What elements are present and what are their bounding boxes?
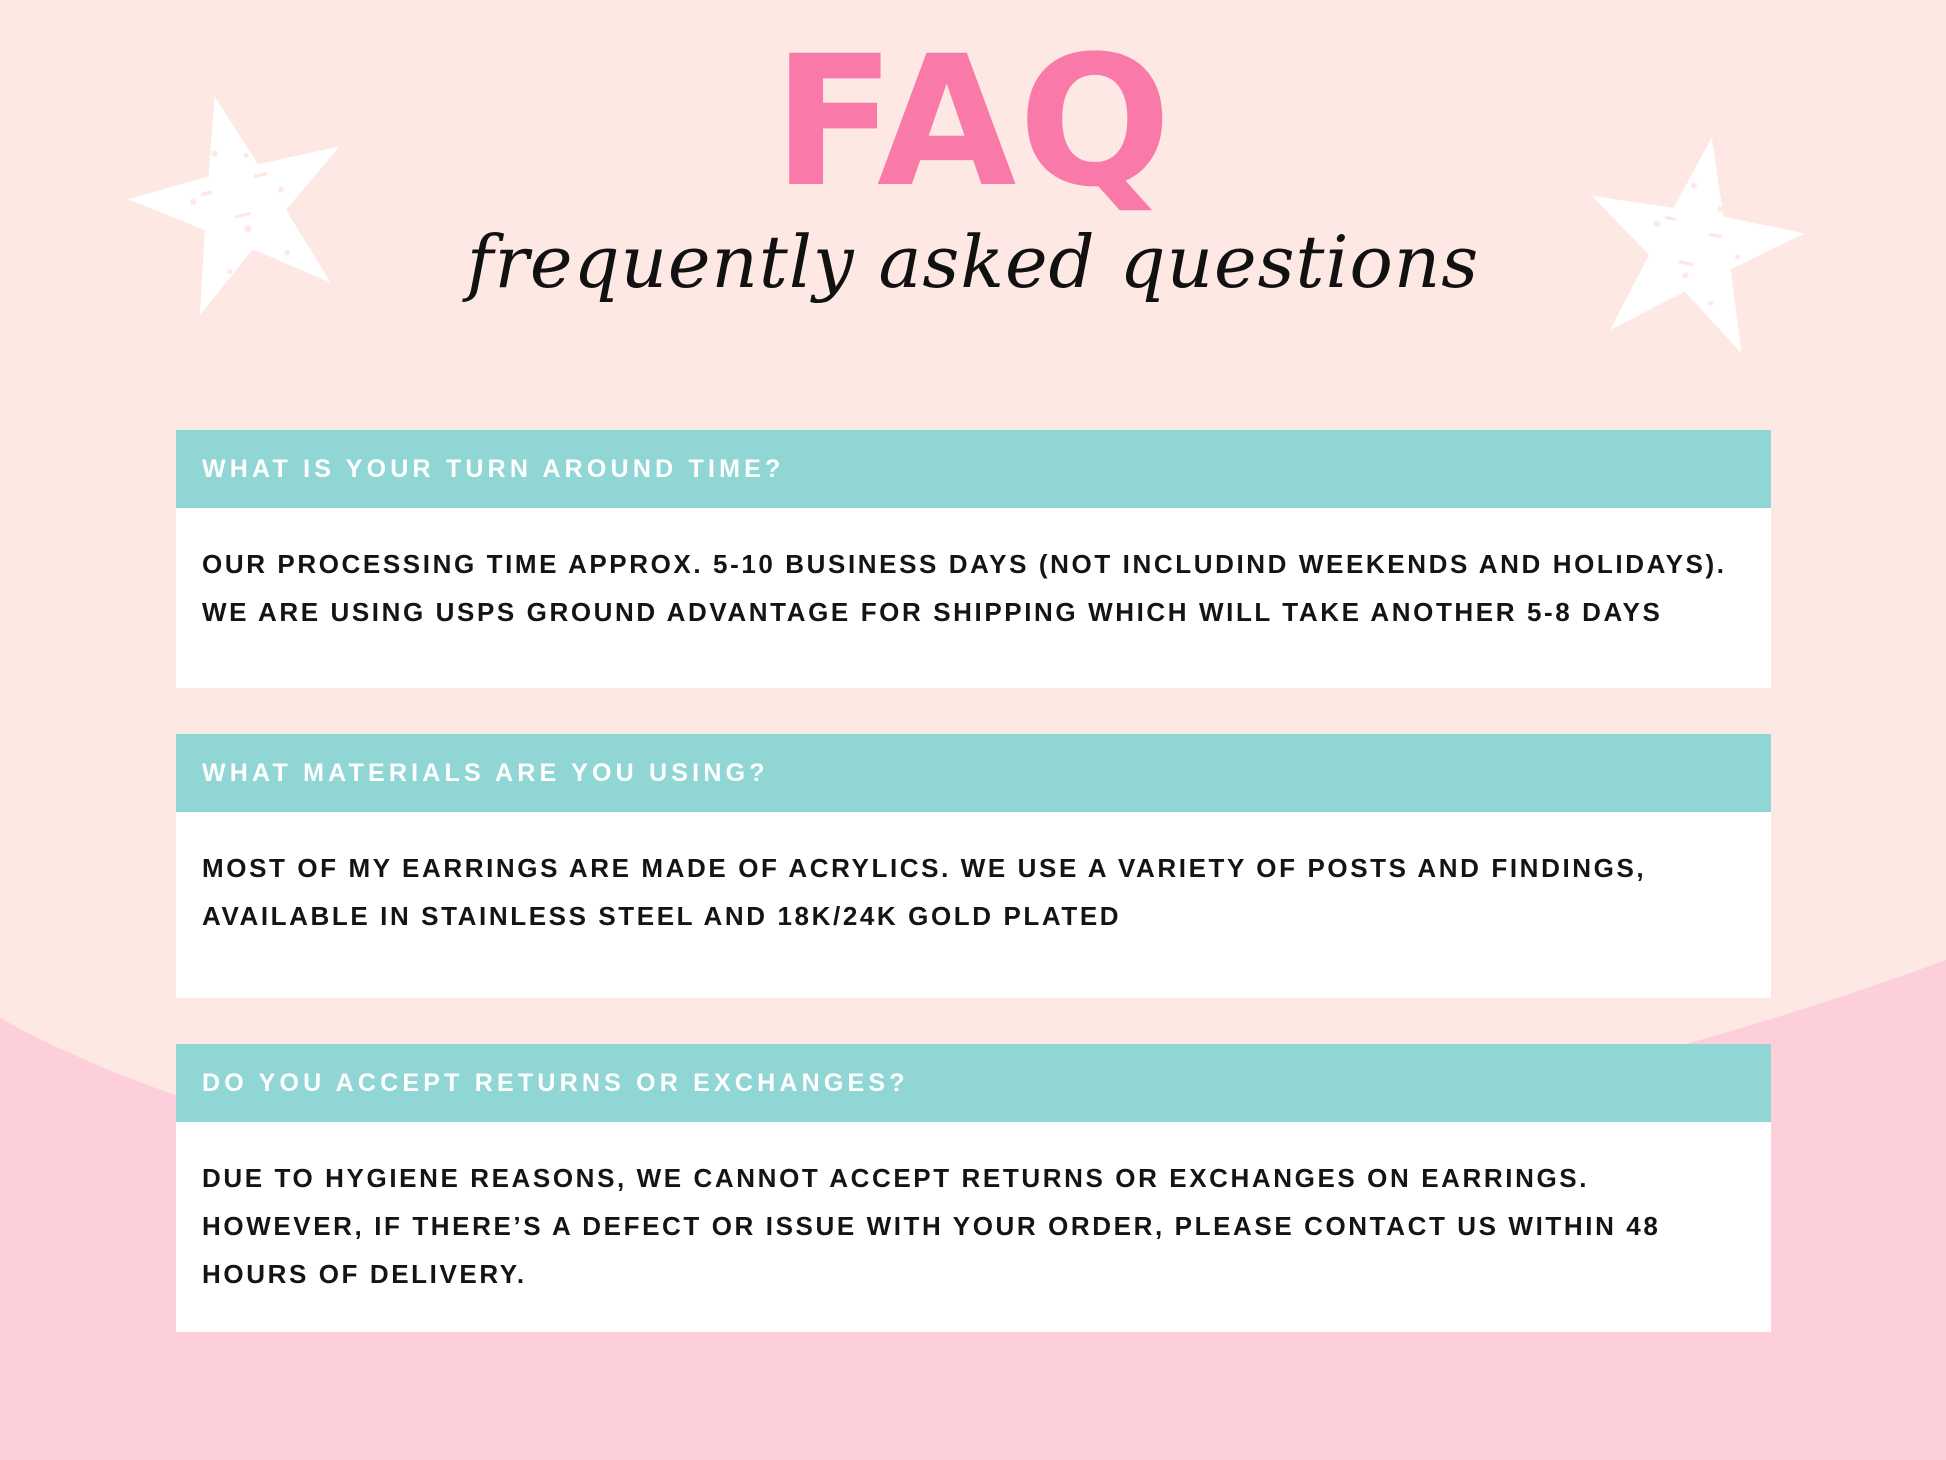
faq-list: WHAT IS YOUR TURN AROUND TIME? OUR PROCE…	[176, 430, 1771, 1332]
faq-poster: FAQ frequently asked questions WHAT IS Y…	[0, 0, 1946, 1460]
faq-question-bar[interactable]: WHAT IS YOUR TURN AROUND TIME?	[176, 430, 1771, 508]
faq-answer-panel: DUE TO HYGIENE REASONS, WE CANNOT ACCEPT…	[176, 1122, 1771, 1332]
faq-item[interactable]: WHAT MATERIALS ARE YOU USING? MOST OF MY…	[176, 734, 1771, 998]
faq-answer-panel: MOST OF MY EARRINGS ARE MADE OF ACRYLICS…	[176, 812, 1771, 998]
faq-question-bar[interactable]: DO YOU ACCEPT RETURNS OR EXCHANGES?	[176, 1044, 1771, 1122]
faq-question-label: DO YOU ACCEPT RETURNS OR EXCHANGES?	[202, 1069, 909, 1098]
faq-answer-text: MOST OF MY EARRINGS ARE MADE OF ACRYLICS…	[202, 844, 1745, 940]
faq-item[interactable]: WHAT IS YOUR TURN AROUND TIME? OUR PROCE…	[176, 430, 1771, 688]
faq-question-label: WHAT MATERIALS ARE YOU USING?	[202, 759, 769, 788]
faq-question-label: WHAT IS YOUR TURN AROUND TIME?	[202, 455, 784, 484]
faq-answer-text: DUE TO HYGIENE REASONS, WE CANNOT ACCEPT…	[202, 1154, 1745, 1298]
faq-answer-text: OUR PROCESSING TIME APPROX. 5-10 BUSINES…	[202, 540, 1745, 636]
faq-question-bar[interactable]: WHAT MATERIALS ARE YOU USING?	[176, 734, 1771, 812]
poster-header: FAQ frequently asked questions	[0, 0, 1946, 302]
faq-answer-panel: OUR PROCESSING TIME APPROX. 5-10 BUSINES…	[176, 508, 1771, 688]
faq-item[interactable]: DO YOU ACCEPT RETURNS OR EXCHANGES? DUE …	[176, 1044, 1771, 1332]
page-title: FAQ	[0, 0, 1946, 217]
page-subtitle: frequently asked questions	[0, 217, 1946, 302]
